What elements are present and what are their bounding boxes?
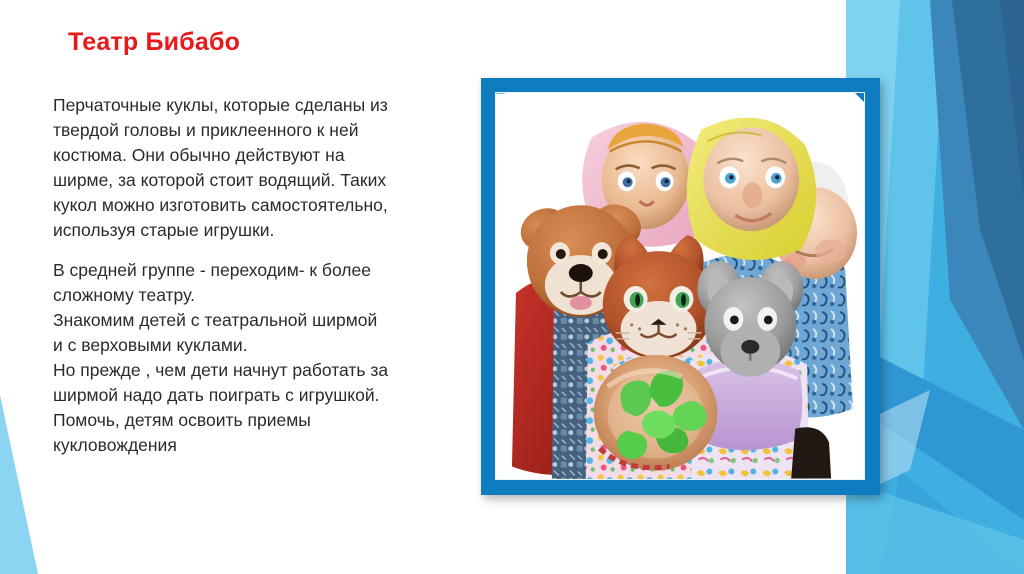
page-title: Театр Бибабо bbox=[68, 28, 240, 57]
text-line: ширмой надо дать поиграть с игрушкой. bbox=[53, 383, 443, 408]
text-line: В средней группе - переходим- к более bbox=[53, 258, 443, 283]
text-line: твердой головы и приклеенного к ней bbox=[53, 118, 443, 143]
text-line: Перчаточные куклы, которые сделаны из bbox=[53, 93, 443, 118]
text-line: кукол можно изготовить самостоятельно, bbox=[53, 193, 443, 218]
text-line: Помочь, детям освоить приемы bbox=[53, 408, 443, 433]
body-text-block: Перчаточные куклы, которые сделаны из тв… bbox=[53, 93, 443, 458]
slide-canvas: Театр Бибабо Перчаточные куклы, которые … bbox=[0, 0, 1024, 574]
mouse-puppet bbox=[691, 261, 809, 479]
puppet-photo bbox=[496, 93, 864, 479]
text-line: Но прежде , чем дети начнут работать за bbox=[53, 358, 443, 383]
paragraph-method: В средней группе - переходим- к более сл… bbox=[53, 258, 443, 458]
text-line: используя старые игрушки. bbox=[53, 218, 443, 243]
paragraph-definition: Перчаточные куклы, которые сделаны из тв… bbox=[53, 93, 443, 243]
text-line: костюма. Они обычно действуют на bbox=[53, 143, 443, 168]
photo-frame bbox=[481, 78, 880, 495]
photo-mat bbox=[496, 93, 864, 479]
text-line: сложному театру. bbox=[53, 283, 443, 308]
text-line: ширме, за которой стоит водящий. Таких bbox=[53, 168, 443, 193]
text-line: кукловождения bbox=[53, 433, 443, 458]
text-line: Знакомим детей с театральной ширмой bbox=[53, 308, 443, 333]
text-line: и с верховыми куклами. bbox=[53, 333, 443, 358]
turnip-prop bbox=[594, 355, 718, 471]
